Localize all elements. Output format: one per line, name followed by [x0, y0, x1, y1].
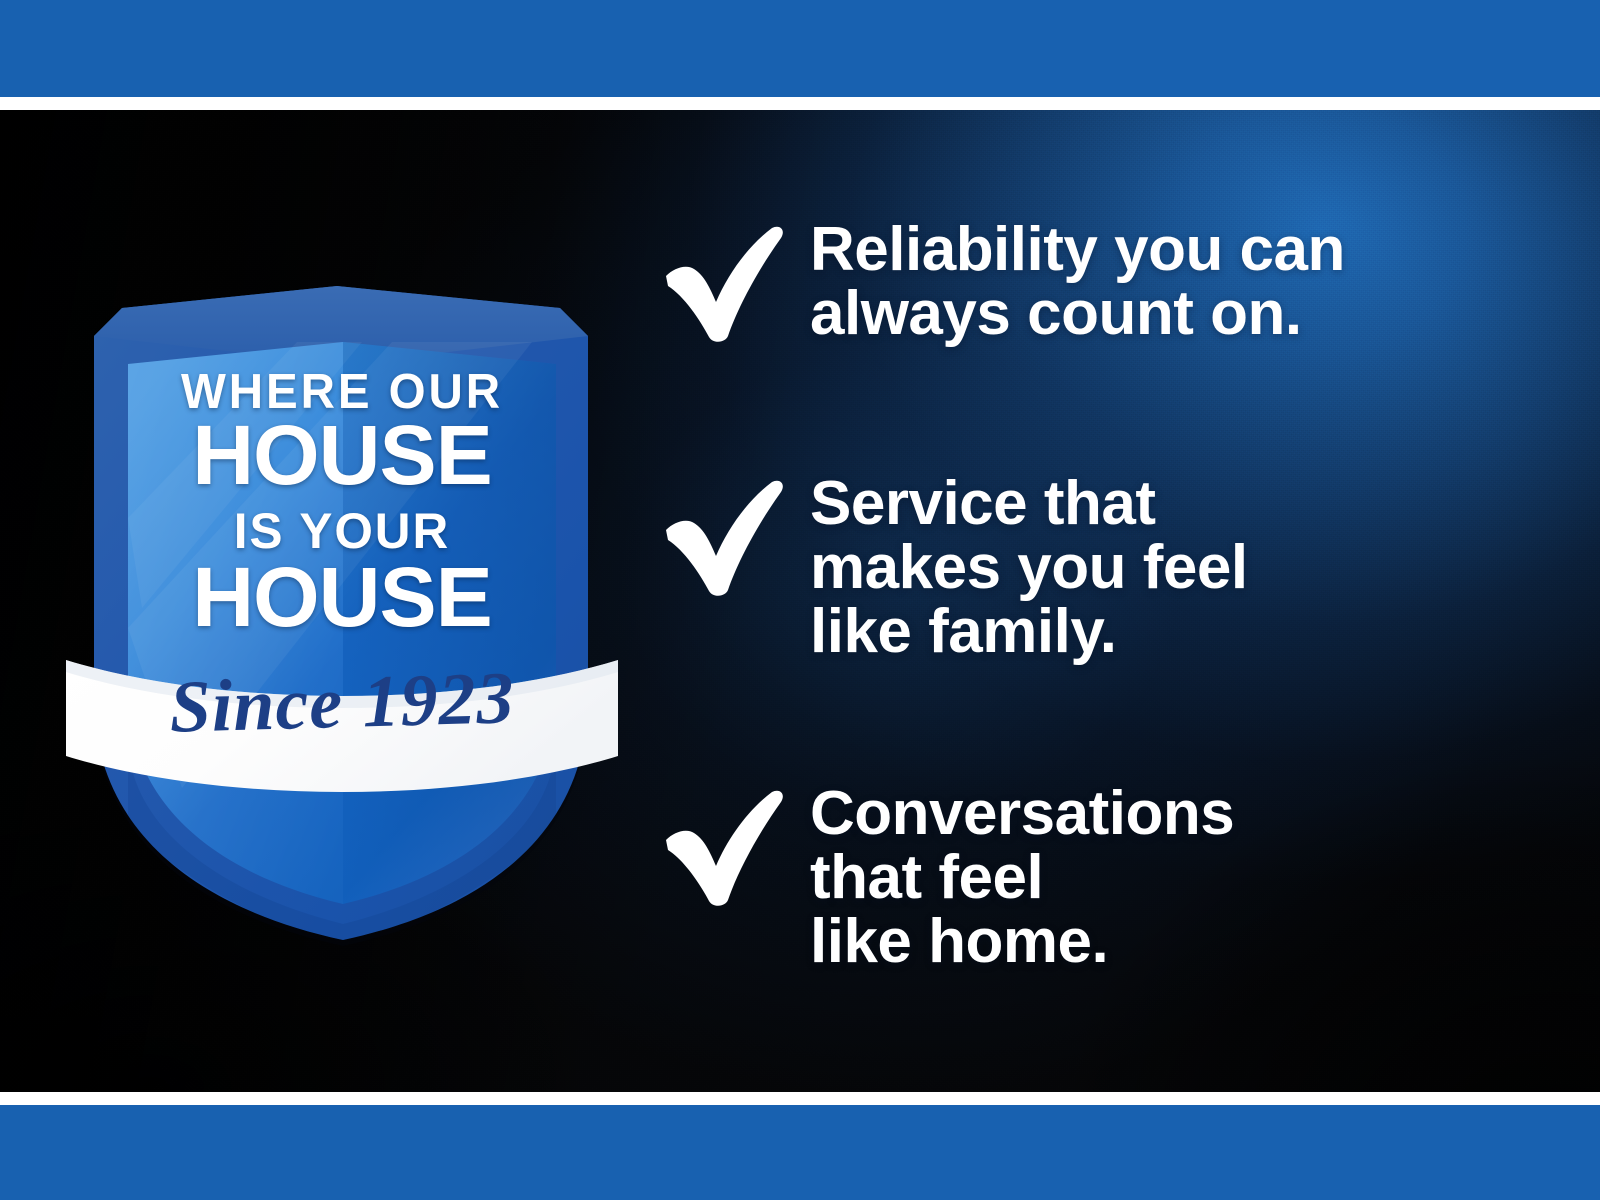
- check-icon: [660, 788, 788, 908]
- benefit-item-2: Service that makes you feel like family.: [660, 472, 1248, 664]
- brand-bar-top: [0, 0, 1600, 97]
- check-icon: [660, 478, 788, 598]
- promo-banner: WHERE OUR HOUSE IS YOUR HOUSE Since 1923…: [0, 0, 1600, 1200]
- benefit-text-3: Conversations that feel like home.: [810, 782, 1234, 974]
- benefit-text-2: Service that makes you feel like family.: [810, 472, 1248, 664]
- benefits-list: Reliability you can always count on. Ser…: [660, 110, 1540, 1092]
- benefit-text-1: Reliability you can always count on.: [810, 218, 1345, 346]
- benefit-item-1: Reliability you can always count on.: [660, 218, 1345, 346]
- benefit-item-3: Conversations that feel like home.: [660, 782, 1234, 974]
- brand-bar-bottom: [0, 1105, 1600, 1200]
- check-icon: [660, 224, 788, 344]
- shield-emblem: WHERE OUR HOUSE IS YOUR HOUSE Since 1923: [62, 268, 622, 948]
